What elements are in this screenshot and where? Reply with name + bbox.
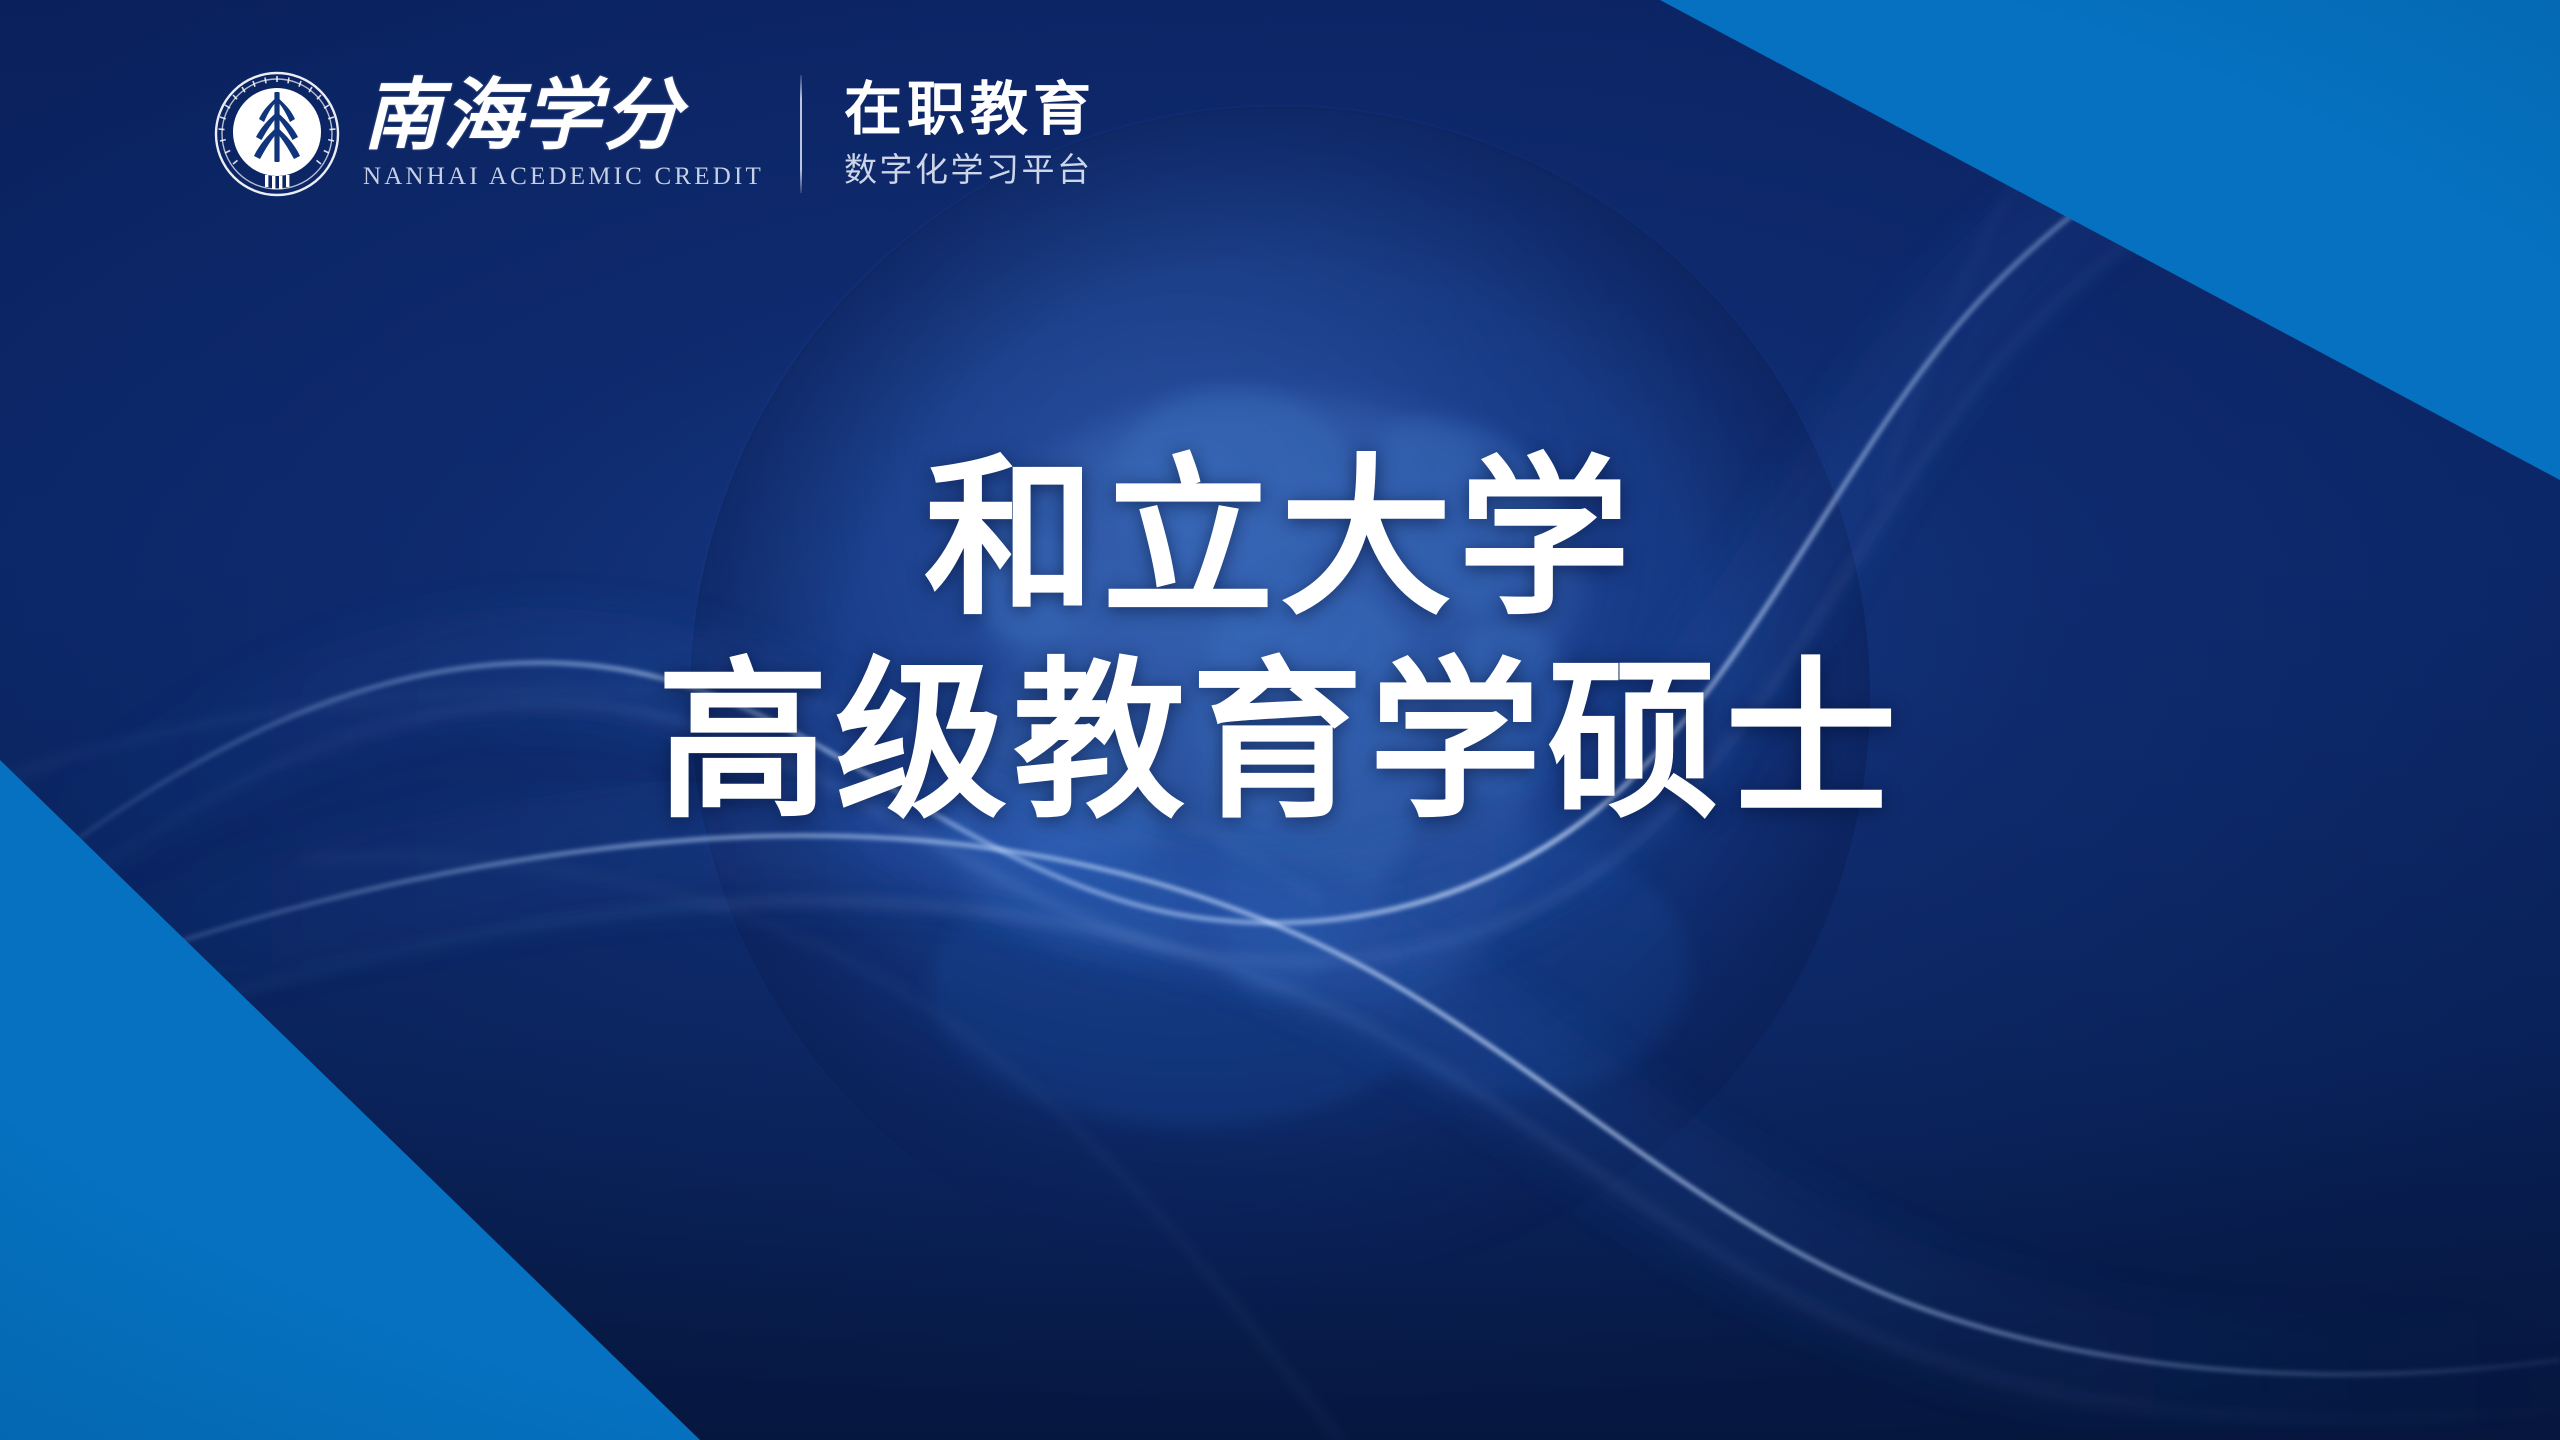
brand-name-cn: 南海学分	[363, 77, 764, 155]
slide-title: 和立大学 高级教育学硕士	[0, 438, 2560, 844]
presentation-slide: 南海学分 NANHAI ACEDEMIC CREDIT 在职教育 数字化学习平台…	[0, 0, 2560, 1440]
brand-name-en: NANHAI ACEDEMIC CREDIT	[363, 163, 764, 191]
brand-tagline-main: 在职教育	[844, 80, 1096, 141]
brand-name-block: 南海学分 NANHAI ACEDEMIC CREDIT	[363, 77, 764, 191]
brand-tagline-sub: 数字化学习平台	[844, 153, 1096, 188]
slide-title-line-2: 高级教育学硕士	[0, 641, 2560, 844]
brand-logo-lockup[interactable]: 南海学分 NANHAI ACEDEMIC CREDIT 在职教育 数字化学习平台	[213, 70, 1096, 198]
vertical-divider-icon	[800, 75, 802, 193]
brand-tagline-block: 在职教育 数字化学习平台	[844, 80, 1096, 188]
slide-title-line-1: 和立大学	[0, 438, 2560, 641]
university-crest-icon	[213, 70, 341, 198]
